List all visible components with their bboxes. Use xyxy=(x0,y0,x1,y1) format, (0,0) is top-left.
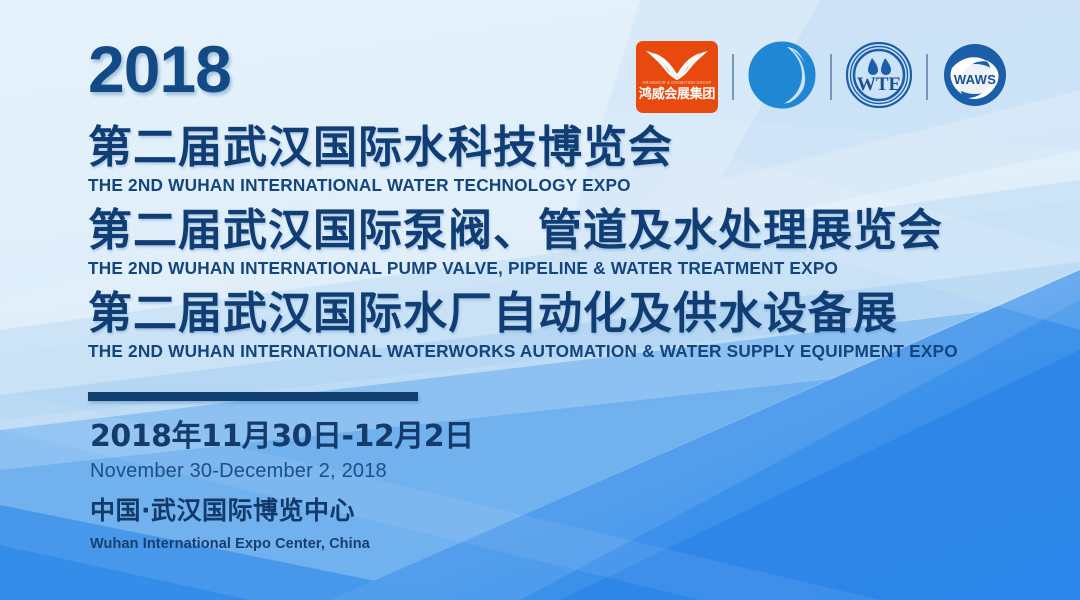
event-details: 2018年11月30日-12月2日 November 30-December 2… xyxy=(90,418,474,554)
expo-2-title-cn: 第二届武汉国际泵阀、管道及水处理展览会 xyxy=(88,207,943,254)
section-divider xyxy=(88,392,418,401)
expo-banner: GRANDEUR & EXHIBITION GROUP 鸿威会展集团 xyxy=(0,0,1080,600)
waws-logo[interactable]: WAWS xyxy=(942,42,1008,113)
expo-entry-2: 第二届武汉国际泵阀、管道及水处理展览会 THE 2ND WUHAN INTERN… xyxy=(88,207,943,279)
sponsor-logo-strip: GRANDEUR & EXHIBITION GROUP 鸿威会展集团 xyxy=(636,40,1008,114)
expo-3-title-cn: 第二届武汉国际水厂自动化及供水设备展 xyxy=(88,290,971,337)
expo-entry-1: 第二届武汉国际水科技博览会 THE 2ND WUHAN INTERNATIONA… xyxy=(88,124,673,196)
water-drop-logo[interactable] xyxy=(748,41,816,114)
event-venue-cn: 中国·武汉国际博览中心 xyxy=(90,495,474,528)
logo-divider xyxy=(732,54,734,100)
waws-logo-text: WAWS xyxy=(954,72,996,87)
expo-2-title-en: THE 2ND WUHAN INTERNATIONAL PUMP VALVE, … xyxy=(88,258,930,279)
expo-3-title-en: THE 2ND WUHAN INTERNATIONAL WATERWORKS A… xyxy=(88,341,958,362)
expo-1-title-cn: 第二届武汉国际水科技博览会 xyxy=(88,124,673,171)
expo-entry-3: 第二届武汉国际水厂自动化及供水设备展 THE 2ND WUHAN INTERNA… xyxy=(88,290,971,362)
logo-divider xyxy=(830,54,832,100)
logo-divider xyxy=(926,54,928,100)
grandeur-logo[interactable]: GRANDEUR & EXHIBITION GROUP 鸿威会展集团 xyxy=(636,41,718,113)
expo-1-title-en: THE 2ND WUHAN INTERNATIONAL WATER TECHNO… xyxy=(88,175,664,196)
grandeur-logo-chinese: 鸿威会展集团 xyxy=(639,88,715,101)
event-venue-en: Wuhan International Expo Center, China xyxy=(90,534,474,554)
grandeur-logo-english: GRANDEUR & EXHIBITION GROUP xyxy=(643,81,712,86)
wte-logo[interactable]: WTE xyxy=(846,42,912,113)
event-date-cn: 2018年11月30日-12月2日 xyxy=(90,418,474,456)
event-date-en: November 30-December 2, 2018 xyxy=(90,458,474,485)
wings-w-icon xyxy=(644,47,710,81)
page-title-year: 2018 xyxy=(88,36,231,102)
wte-logo-text: WTE xyxy=(857,74,901,95)
